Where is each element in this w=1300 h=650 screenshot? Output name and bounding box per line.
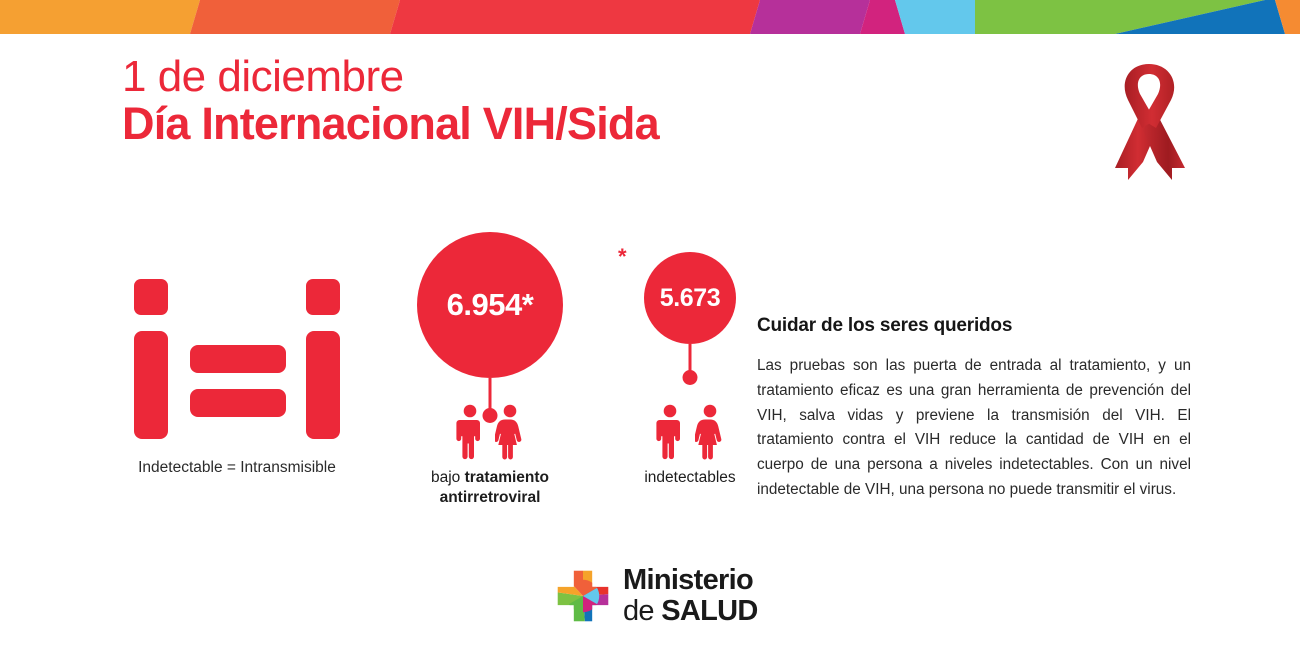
iei-right-i-stem [306,331,340,439]
stat-treatment-value-bubble: 6.954* [417,232,563,378]
ministerio-salud-wordmark: Ministerio de SALUD [623,566,758,626]
stat-treatment-block: 6.954* bajo tratamiento antirretroviral [390,232,590,432]
bar-segment-orange-dark [190,0,400,34]
stat-treatment-label-prefix: bajo [431,469,465,486]
page-title-date: 1 de diciembre [122,55,1022,99]
bar-segment-orange-light [0,0,200,34]
logo-line-de-salud: de SALUD [623,597,758,626]
stat-undetectable-pin-dot [683,370,698,385]
undetectable-equals-untransmittable-block: Indetectable = Intransmisible [122,275,352,477]
logo-de: de [623,595,661,627]
ministerio-salud-logo: Ministerio de SALUD [556,566,758,626]
stat-treatment-label: bajo tratamiento antirretroviral [390,468,590,508]
woman-icon [495,404,525,460]
man-woman-pair-icon [655,404,725,460]
bar-segment-magenta [750,0,870,34]
stat-undetectable-asterisk: * [618,246,627,268]
stat-undetectable-label: indetectables [600,468,780,488]
iei-caption: Indetectable = Intransmisible [122,458,352,477]
iei-equals-top-bar [190,345,286,373]
care-for-loved-ones-panel: Cuidar de los seres queridos Las pruebas… [757,315,1191,503]
iei-right-i-dot [306,279,340,315]
man-icon [455,404,485,460]
woman-icon [695,404,725,460]
iei-left-i-stem [134,331,168,439]
aids-awareness-ribbon-icon [1085,52,1215,182]
stat-undetectable-value-bubble: 5.673 [644,252,736,344]
panel-heading: Cuidar de los seres queridos [757,315,1191,337]
man-woman-pair-icon [455,404,525,460]
page-title-main: Día Internacional VIH/Sida [122,99,1022,149]
iei-equals-bottom-bar [190,389,286,417]
indetectable-igual-intransmisible-icon [128,275,346,443]
decorative-color-bar [0,0,1300,34]
stat-undetectable-pin-stem [689,344,692,372]
stat-undetectable-label-prefix: indetectables [644,469,735,486]
man-icon [655,404,685,460]
stat-treatment-graphic: 6.954* [390,232,590,432]
bar-segment-light-blue [895,0,975,34]
panel-body-text: Las pruebas son las puerta de entrada al… [757,354,1191,503]
logo-line-ministerio: Ministerio [623,566,758,595]
stat-undetectable-block: * 5.673 indetectables [600,232,780,432]
ministerio-salud-cross-icon [556,569,610,623]
stat-undetectable-graphic: * 5.673 [600,232,780,432]
page-header: 1 de diciembre Día Internacional VIH/Sid… [122,55,1022,149]
logo-salud: SALUD [661,595,757,627]
bar-segment-red [390,0,760,34]
iei-left-i-dot [134,279,168,315]
